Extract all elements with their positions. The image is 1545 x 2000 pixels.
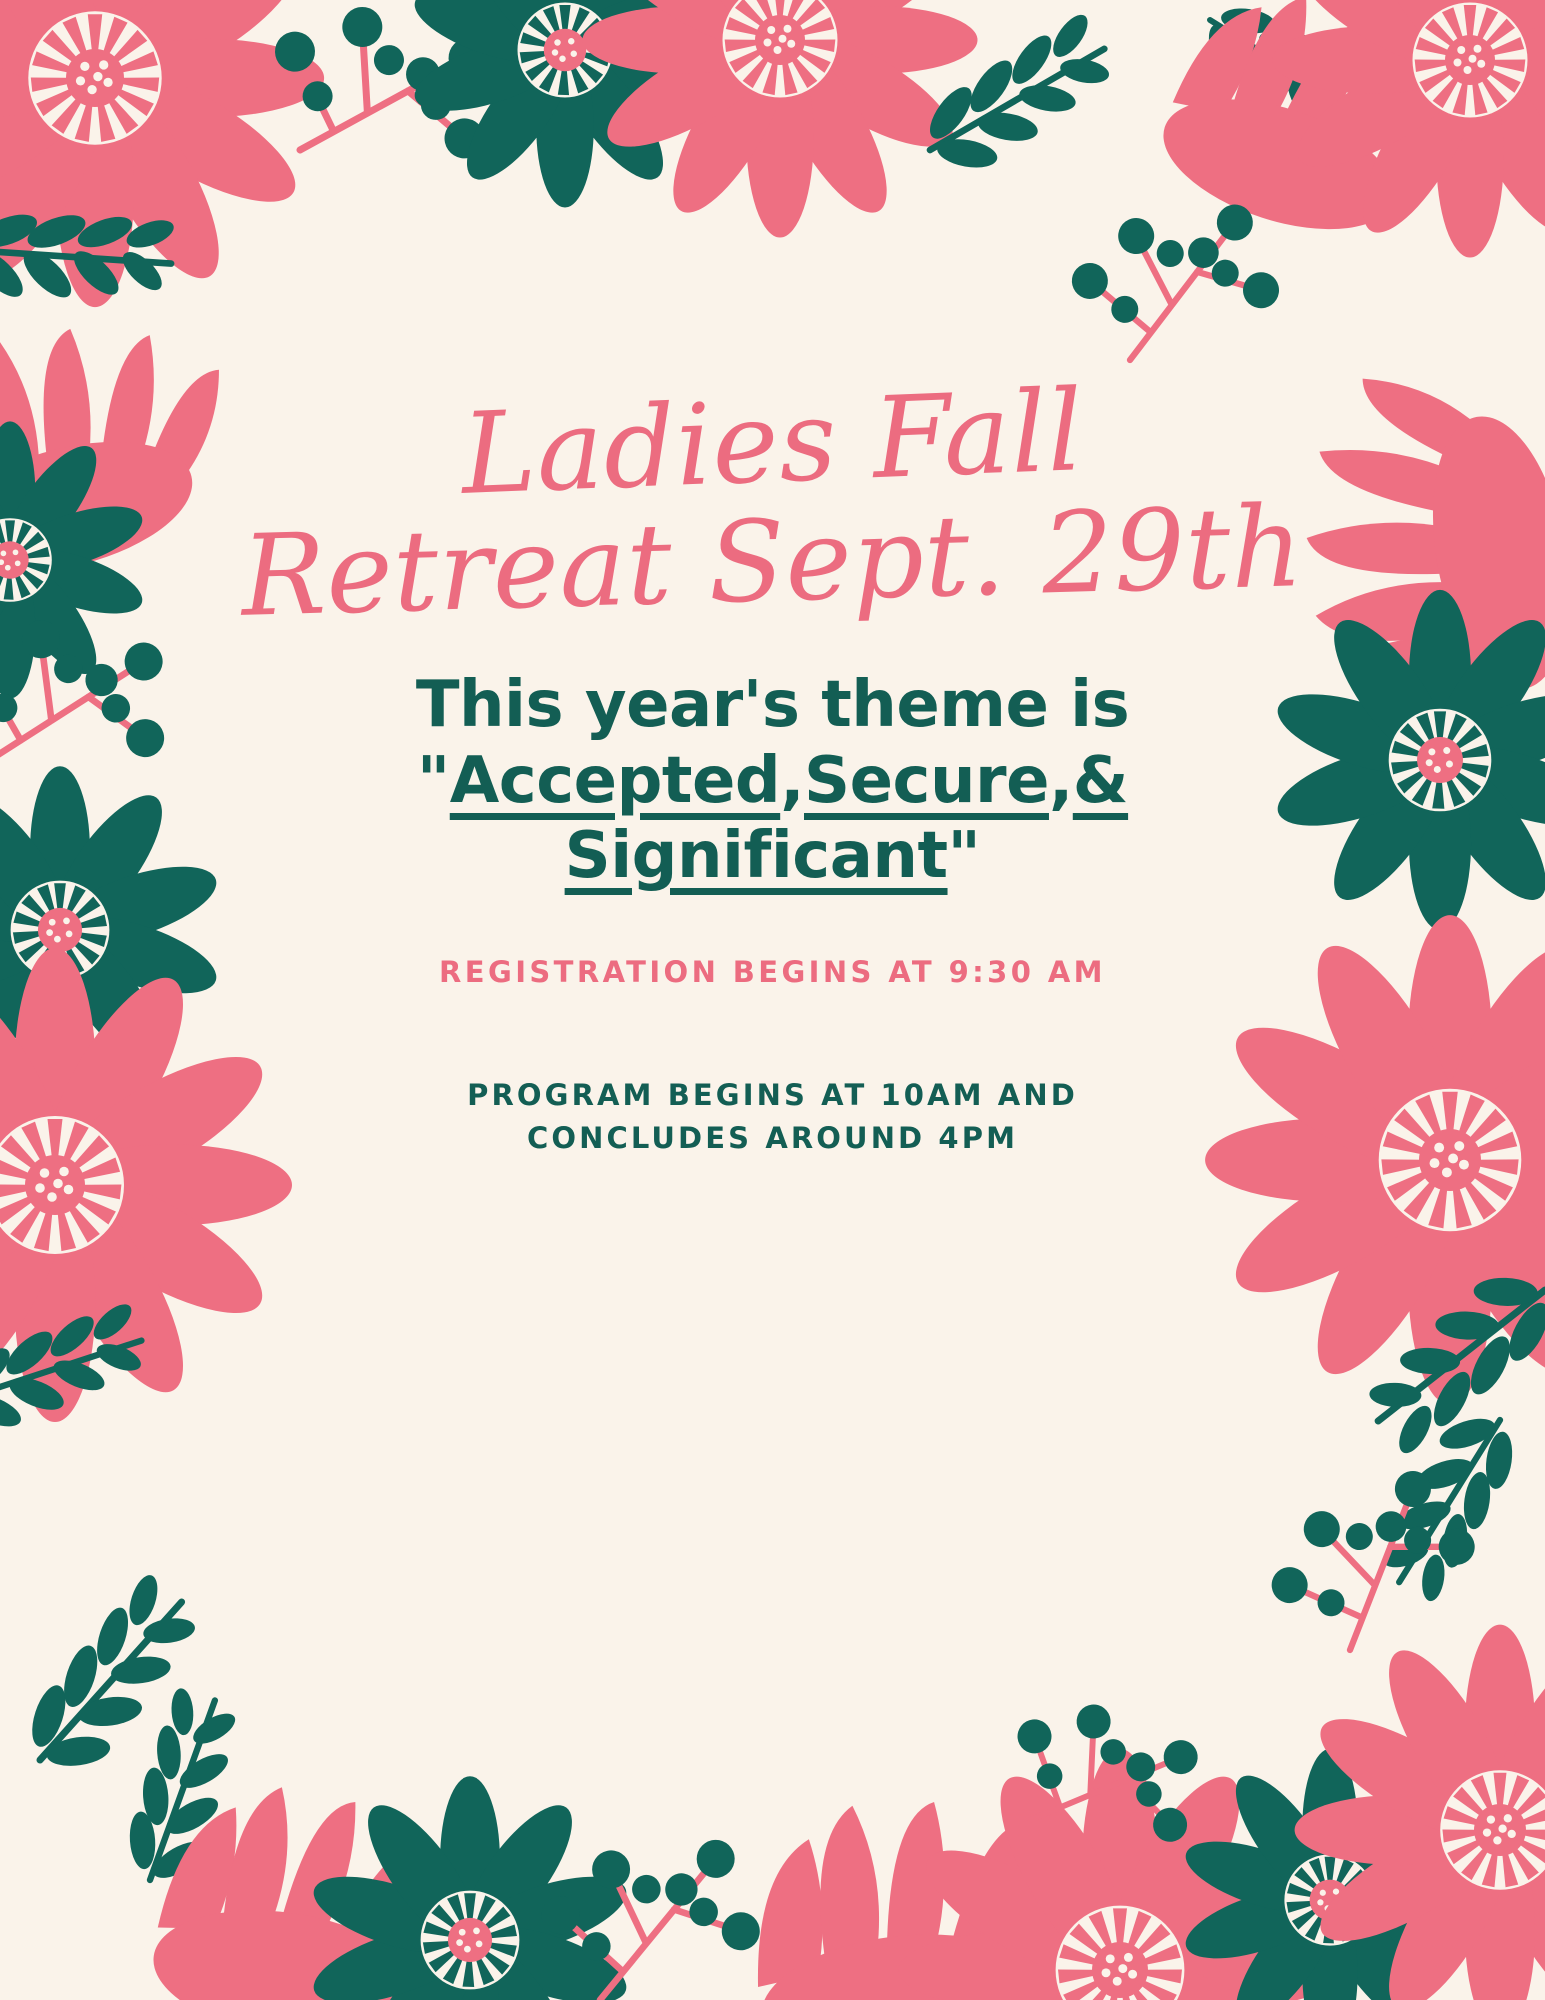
theme-intro-line: This year's theme is (0, 668, 1545, 744)
program-line-2: CONCLUDES AROUND 4PM (0, 1117, 1545, 1161)
program-block: PROGRAM BEGINS AT 10AM AND CONCLUDES ARO… (0, 1074, 1545, 1161)
poster-content: Ladies Fall Retreat Sept. 29th This year… (0, 0, 1545, 2000)
theme-quote-line-2: Significant" (0, 819, 1545, 895)
theme-word-significant: Significant (565, 819, 948, 893)
theme-quote-line-1: "Accepted,Secure,& (0, 744, 1545, 820)
theme-word-accepted: Accepted (450, 744, 780, 818)
quote-close: " (948, 819, 981, 893)
title-block: Ladies Fall Retreat Sept. 29th (0, 392, 1545, 614)
program-line-1: PROGRAM BEGINS AT 10AM AND (0, 1074, 1545, 1118)
theme-comma-2: , (1049, 744, 1073, 818)
theme-comma-1: , (780, 744, 804, 818)
theme-block: This year's theme is "Accepted,Secure,& … (0, 668, 1545, 895)
theme-word-secure: Secure (804, 744, 1049, 818)
registration-line: REGISTRATION BEGINS AT 9:30 AM (0, 955, 1545, 989)
quote-open: " (417, 744, 450, 818)
poster: Ladies Fall Retreat Sept. 29th This year… (0, 0, 1545, 2000)
theme-word-ampersand: & (1073, 744, 1128, 818)
registration-block: REGISTRATION BEGINS AT 9:30 AM (0, 955, 1545, 989)
